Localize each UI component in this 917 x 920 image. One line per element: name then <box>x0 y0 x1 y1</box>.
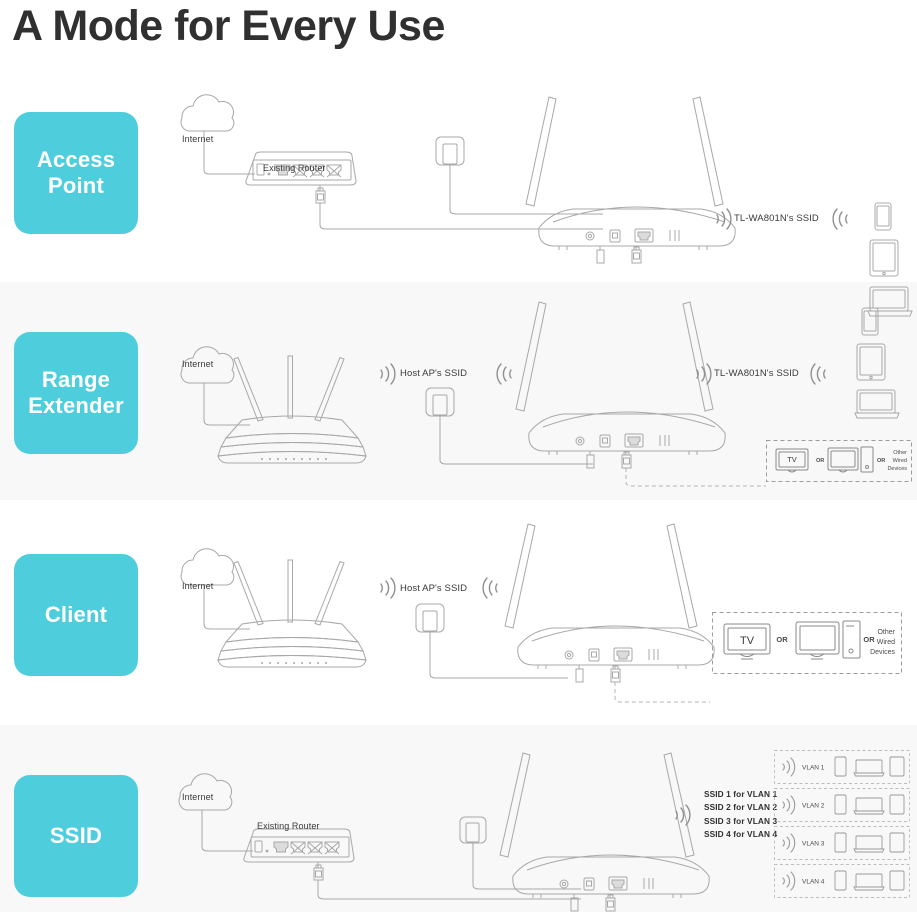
ssid-list-item-1: SSID 1 for VLAN 1 <box>704 788 777 801</box>
vlan-group-2: VLAN 2 <box>775 789 910 822</box>
ssid-wifi-broadcast <box>672 803 694 827</box>
re-or-label-1: OR <box>816 458 824 464</box>
ap-network-art <box>170 90 910 285</box>
re-or-label-2: OR <box>877 458 885 464</box>
vlan-label-1: VLAN 1 <box>802 765 825 772</box>
ssid-list-item-2: SSID 2 for VLAN 2 <box>704 801 777 814</box>
badge-ssid[interactable]: SSID <box>14 775 138 897</box>
client-other-label-3: Devices <box>870 649 895 656</box>
re-host-ssid-label: Host AP's SSID <box>400 368 467 379</box>
section-ssid: SSID <box>0 725 917 912</box>
re-wired-box: OR OR Other Wired Devices TV <box>766 440 912 482</box>
vlan-label-2: VLAN 2 <box>802 803 825 810</box>
client-other-label-1: Other <box>877 629 895 636</box>
badge-client-label: Client <box>45 602 107 628</box>
re-tv-label: TV <box>787 455 797 464</box>
badge-client[interactable]: Client <box>14 554 138 676</box>
client-or-label-2: OR <box>863 635 875 644</box>
ssid-list-item-4: SSID 4 for VLAN 4 <box>704 828 777 841</box>
section-range-extender: RangeExtender <box>0 282 917 500</box>
client-tv-label: TV <box>740 635 755 647</box>
client-internet-label: Internet <box>182 581 213 591</box>
client-other-label-2: Wired <box>877 639 895 646</box>
re-other-label-2: Wired <box>893 458 907 464</box>
vlan-label-4: VLAN 4 <box>802 879 825 886</box>
badge-range-extender-label: RangeExtender <box>28 367 124 418</box>
ap-internet-label: Internet <box>182 134 213 144</box>
section-access-point: AccessPoint <box>0 70 917 282</box>
badge-access-point[interactable]: AccessPoint <box>14 112 138 234</box>
vlan-group-4: VLAN 4 <box>775 865 910 898</box>
badge-range-extender[interactable]: RangeExtender <box>14 332 138 454</box>
re-client-devices <box>855 308 903 423</box>
client-host-ssid-label: Host AP's SSID <box>400 583 467 594</box>
ssid-network-art <box>168 755 768 920</box>
ap-existing-router-label: Existing Router <box>263 163 326 173</box>
badge-access-point-label: AccessPoint <box>37 147 115 198</box>
re-other-label-1: Other <box>893 450 907 456</box>
section-client: Client <box>0 500 917 725</box>
re-other-label-3: Devices <box>887 466 907 472</box>
ap-ssid-label: TL-WA801N's SSID <box>734 213 819 224</box>
badge-ssid-label: SSID <box>50 823 102 849</box>
re-internet-label: Internet <box>182 359 213 369</box>
ssid-internet-label: Internet <box>182 792 213 802</box>
ssid-list: SSID 1 for VLAN 1 SSID 2 for VLAN 2 SSID… <box>704 788 777 842</box>
diagram-page: A Mode for Every Use AccessPoint <box>0 0 917 912</box>
ssid-existing-router-label: Existing Router <box>257 821 320 831</box>
page-title: A Mode for Every Use <box>12 2 445 51</box>
client-or-label-1: OR <box>776 635 788 644</box>
vlan-groups: VLAN 1 <box>774 750 910 900</box>
client-wired-box: TV OR OR Other Wired Devices <box>712 612 902 674</box>
ssid-list-item-3: SSID 3 for VLAN 3 <box>704 815 777 828</box>
vlan-group-3: VLAN 3 <box>775 827 910 860</box>
vlan-label-3: VLAN 3 <box>802 841 825 848</box>
vlan-group-1: VLAN 1 <box>775 751 910 784</box>
re-ap-ssid-label: TL-WA801N's SSID <box>714 368 799 379</box>
